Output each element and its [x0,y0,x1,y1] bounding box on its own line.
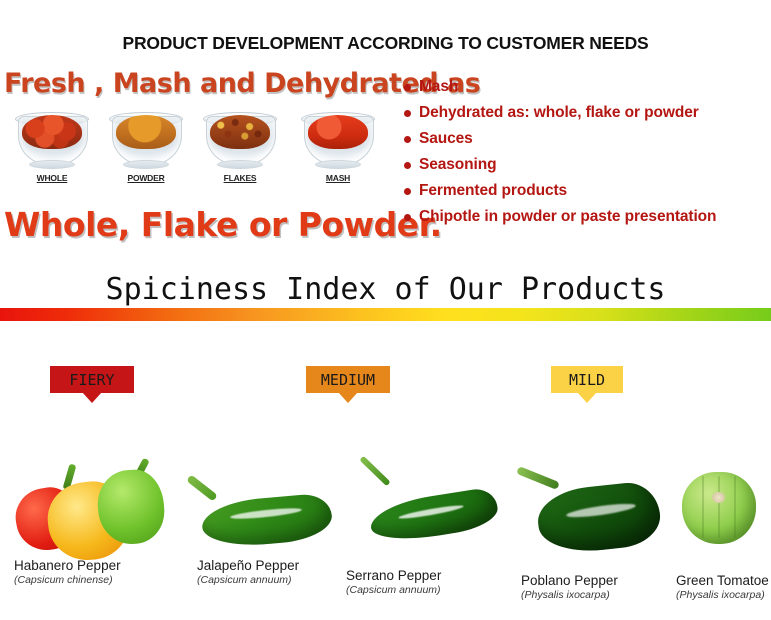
pepper-name: Jalapeño Pepper [197,558,299,573]
bowl-item-mash: MASH [292,108,384,183]
pepper-label-serrano: Serrano Pepper (Capsicum annuum) [346,568,441,596]
pepper-name: Habanero Pepper [14,558,121,573]
bowl-of-chile-flakes-icon [203,108,277,170]
list-item-label: Seasoning [419,154,496,176]
pepper-row: Habanero Pepper (Capsicum chinense) Jala… [0,440,771,620]
pepper-label-poblano: Poblano Pepper (Physalis ixocarpa) [521,573,618,601]
list-item-label: Chipotle in powder or paste presentation [419,206,716,228]
badge-label: FIERY [69,371,114,389]
pepper-label-green-tomatoe: Green Tomatoe (Physalis ixocarpa) [676,573,769,601]
page-title: PRODUCT DEVELOPMENT ACCORDING TO CUSTOME… [0,33,771,54]
pepper-scientific-name: (Physalis ixocarpa) [676,589,769,601]
list-item-label: Sauces [419,128,473,150]
pepper-name: Serrano Pepper [346,568,441,583]
bowl-of-chile-mash-icon [301,108,375,170]
bowl-label-flakes: FLAKES [194,173,286,183]
list-item: Sauces [404,128,771,151]
pepper-name: Poblano Pepper [521,573,618,588]
pepper-label-habanero: Habanero Pepper (Capsicum chinense) [14,558,121,586]
bullet-dot-icon [404,84,411,91]
bullet-dot-icon [404,214,411,221]
spiciness-index-title: Spiciness Index of Our Products [0,272,771,307]
green-tomatillo-icon [676,466,762,552]
pepper-item-jalapeno [180,470,350,558]
bowl-of-chile-powder-icon [109,108,183,170]
list-item: Mash [404,76,771,99]
list-item-label: Fermented products [419,180,567,202]
promo-graphic: Fresh , Mash and Dehydrated as WHOLE [4,68,396,248]
bowl-of-whole-dried-chiles-icon [15,108,89,170]
list-item: Chipotle in powder or paste presentation [404,206,771,229]
status-badge-fiery: FIERY [50,366,134,393]
bullet-dot-icon [404,110,411,117]
badge-label: MEDIUM [321,371,375,389]
pepper-item-poblano [512,452,672,560]
bowl-label-mash: MASH [292,173,384,183]
bullet-dot-icon [404,136,411,143]
list-item: Dehydrated as: whole, flake or powder [404,102,771,125]
list-item-label: Mash [419,76,458,98]
serrano-pepper-icon [348,462,508,558]
product-list: Mash Dehydrated as: whole, flake or powd… [404,76,771,232]
badge-pointer-icon [82,392,102,403]
pepper-scientific-name: (Capsicum chinense) [14,574,121,586]
list-item-label: Dehydrated as: whole, flake or powder [419,102,699,124]
poblano-pepper-icon [512,452,672,560]
bowl-row: WHOLE POWDER FLAKES [4,108,396,204]
status-badge-medium: MEDIUM [306,366,390,393]
bullet-dot-icon [404,188,411,195]
habanero-pepper-icon [14,458,164,558]
bowl-label-whole: WHOLE [6,173,98,183]
pepper-scientific-name: (Physalis ixocarpa) [521,589,618,601]
bowl-item-flakes: FLAKES [194,108,286,183]
promo-headline-top: Fresh , Mash and Dehydrated as [4,68,396,99]
promo-headline-bottom: Whole, Flake or Powder. [4,205,396,244]
spiciness-gradient-bar [0,308,771,321]
jalapeno-pepper-icon [180,470,345,558]
list-item: Seasoning [404,154,771,177]
bowl-label-powder: POWDER [100,173,192,183]
list-item: Fermented products [404,180,771,203]
badge-label: MILD [569,371,605,389]
pepper-item-habanero [14,458,174,558]
status-badge-mild: MILD [551,366,623,393]
pepper-name: Green Tomatoe [676,573,769,588]
bowl-item-powder: POWDER [100,108,192,183]
slide-root: PRODUCT DEVELOPMENT ACCORDING TO CUSTOME… [0,0,771,620]
badge-pointer-icon [338,392,358,403]
badge-pointer-icon [577,392,597,403]
pepper-scientific-name: (Capsicum annuum) [346,584,441,596]
bowl-item-whole: WHOLE [6,108,98,183]
bullet-dot-icon [404,162,411,169]
pepper-item-green-tomatoe [676,466,771,552]
pepper-item-serrano [348,462,508,558]
pepper-scientific-name: (Capsicum annuum) [197,574,299,586]
pepper-label-jalapeno: Jalapeño Pepper (Capsicum annuum) [197,558,299,586]
